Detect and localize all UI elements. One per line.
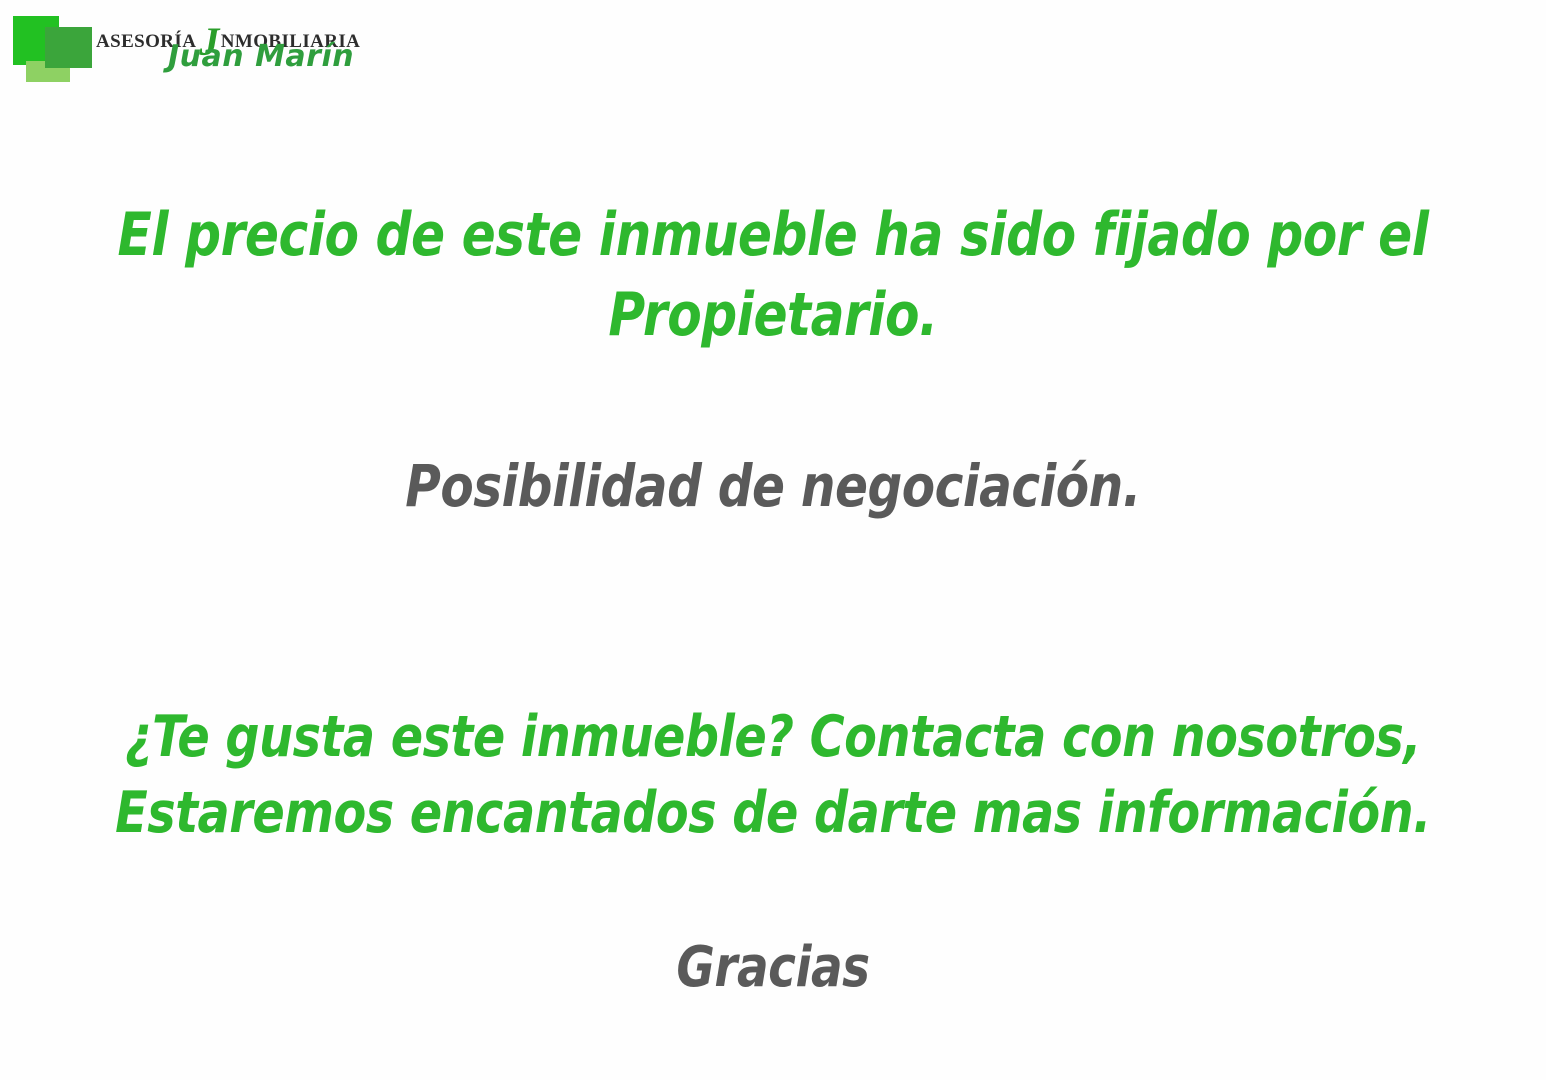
negotiation-statement-line-1: Posibilidad de negociación. xyxy=(110,452,1436,522)
price-statement-block: El precio de este inmueble ha sido fijad… xyxy=(110,196,1436,356)
negotiation-statement-block: Posibilidad de negociación. xyxy=(110,452,1436,522)
contact-invitation-line-2: Estaremos encantados de darte mas inform… xyxy=(110,776,1436,852)
price-statement-line-2: Propietario. xyxy=(110,276,1436,356)
contact-invitation-line-1: ¿Te gusta este inmueble? Contacta con no… xyxy=(110,700,1436,776)
thanks-line-1: Gracias xyxy=(110,934,1436,1001)
price-statement-line-1: El precio de este inmueble ha sido fijad… xyxy=(110,196,1436,276)
contact-invitation-block: ¿Te gusta este inmueble? Contacta con no… xyxy=(110,700,1436,852)
slide-canvas: ASESORÍAJNMOBILIARIA Juan Marín El preci… xyxy=(0,0,1546,1080)
slide-content: El precio de este inmueble ha sido fijad… xyxy=(0,0,1546,1080)
thanks-block: Gracias xyxy=(110,934,1436,1001)
